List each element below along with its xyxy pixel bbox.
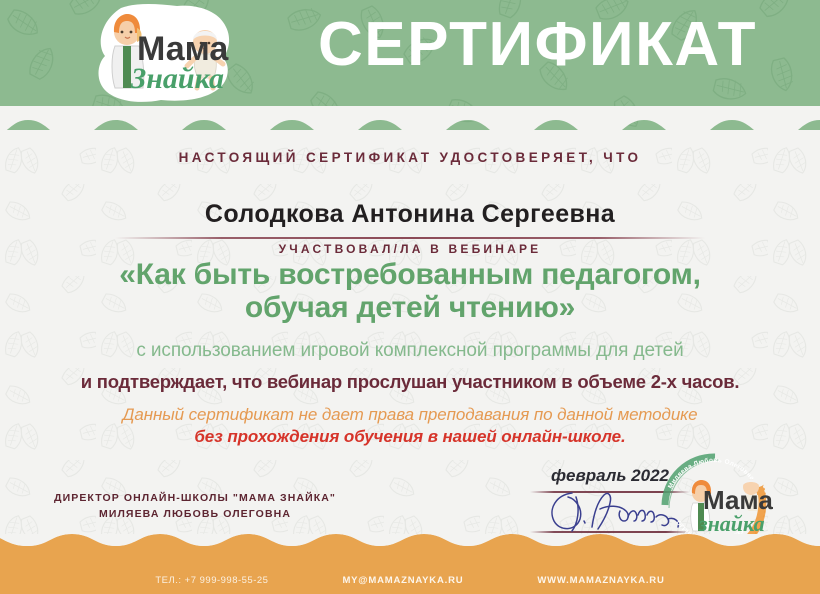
footer-scallop-edge <box>0 534 820 560</box>
attest-line: НАСТОЯЩИЙ СЕРТИФИКАТ УДОСТОВЕРЯЕТ, ЧТО <box>0 150 820 165</box>
webinar-title-line-2: обучая детей чтению» <box>0 291 820 324</box>
webinar-title-line-1: «Как быть востребованным педагогом, <box>0 258 820 291</box>
director-name: МИЛЯЕВА ЛЮБОВЬ ОЛЕГОВНА <box>30 506 360 522</box>
stamp-brand-bottom: знайка <box>698 511 765 536</box>
program-line: с использованием игровой комплексной про… <box>0 340 820 362</box>
page-title: СЕРТИФИКАТ <box>255 14 820 76</box>
webinar-title: «Как быть востребованным педагогом, обуч… <box>0 258 820 324</box>
recipient-name: Солодкова Антонина Сергеевна <box>0 200 820 229</box>
footer-email[interactable]: MY@MAMAZNAYKA.RU <box>342 575 463 586</box>
name-divider <box>115 237 705 239</box>
certificate-canvas: СЕРТИФИКАТ <box>0 0 820 594</box>
participation-line: УЧАСТВОВАЛ/ЛА В ВЕБИНАРЕ <box>0 242 820 256</box>
director-block: ДИРЕКТОР ОНЛАЙН-ШКОЛЫ "МАМА ЗНАЙКА" МИЛЯ… <box>30 490 360 522</box>
confirmation-line: и подтверждает, что вебинар прослушан уч… <box>0 371 820 393</box>
footer-phone[interactable]: ТЕЛ.: +7 999-998-55-25 <box>155 575 268 586</box>
disclaimer-line-1: Данный сертификат не дает права преподав… <box>0 405 820 425</box>
brand-logo: Мама Знайка <box>85 2 245 112</box>
footer-website[interactable]: WWW.MAMAZNAYKA.RU <box>537 575 664 586</box>
director-title: ДИРЕКТОР ОНЛАЙН-ШКОЛЫ "МАМА ЗНАЙКА" <box>30 490 360 506</box>
logo-brand-bottom: Знайка <box>130 62 224 95</box>
footer-contacts: ТЕЛ.: +7 999-998-55-25 MY@MAMAZNAYKA.RU … <box>0 570 820 590</box>
disclaimer-line-2: без прохождения обучения в нашей онлайн-… <box>0 427 820 447</box>
